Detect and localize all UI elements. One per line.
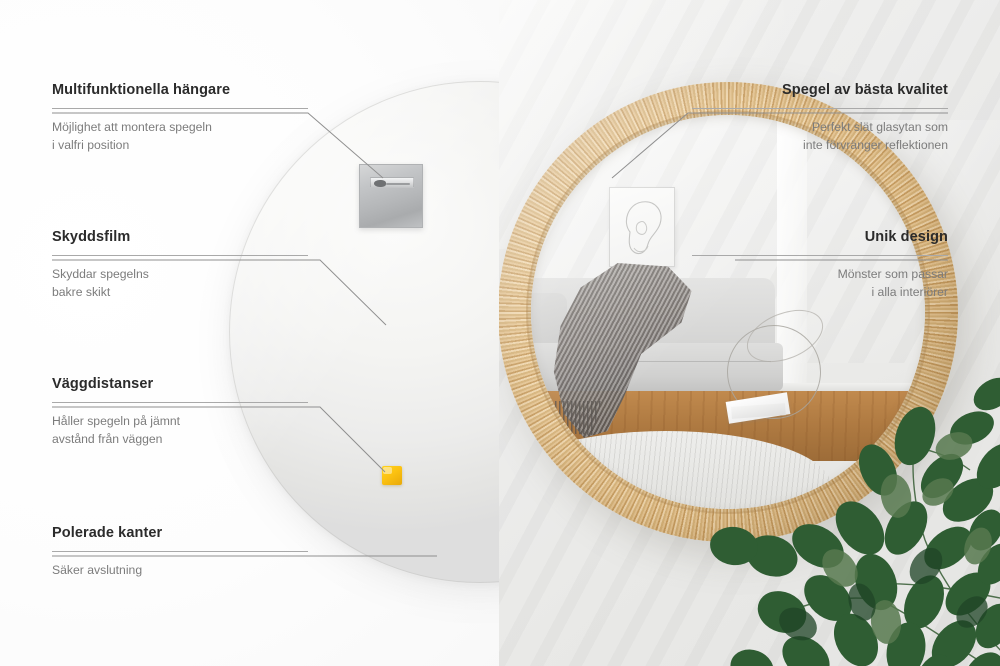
callout-title: Skyddsfilm — [52, 229, 308, 246]
callout-rule — [692, 108, 948, 109]
callout-title: Väggdistanser — [52, 376, 308, 393]
callout-title: Polerade kanter — [52, 525, 308, 542]
callout-title: Multifunktionella hängare — [52, 82, 308, 99]
foliage-decoration — [710, 350, 1000, 666]
callout-desc-line2: inte förvränger reflektionen — [692, 137, 948, 154]
callout-desc-line1: Håller spegeln på jämnt — [52, 413, 308, 430]
callout-vaggdistanser: Väggdistanser Håller spegeln på jämnt av… — [52, 376, 308, 448]
mirror-back-rim — [229, 81, 499, 583]
hanger-plate-icon — [370, 177, 414, 188]
hanger-slot-icon — [386, 183, 410, 186]
callout-unik-design: Unik design Mönster som passar i alla in… — [692, 229, 948, 301]
callout-skyddsfilm: Skyddsfilm Skyddar spegelns bakre skikt — [52, 229, 308, 301]
hanger-bracket — [359, 164, 423, 228]
callout-desc-line1: Mönster som passar — [692, 266, 948, 283]
callout-rule — [52, 255, 308, 256]
callout-desc-line2: avstånd från väggen — [52, 431, 308, 448]
infographic-canvas: Multifunktionella hängare Möjlighet att … — [0, 0, 1000, 666]
callout-rule — [52, 551, 308, 552]
callout-desc-line2: i valfri position — [52, 137, 308, 154]
callout-spegel-av-basta-kvalitet: Spegel av bästa kvalitet Perfekt slät gl… — [692, 82, 948, 154]
callout-title: Unik design — [692, 229, 948, 246]
callout-desc-line2: i alla interiörer — [692, 284, 948, 301]
callout-multifunktionella-hangare: Multifunktionella hängare Möjlighet att … — [52, 82, 308, 154]
callout-desc-line1: Möjlighet att montera spegeln — [52, 119, 308, 136]
callout-desc-line1: Perfekt slät glasytan som — [692, 119, 948, 136]
hanger-keyhole-icon — [374, 180, 386, 187]
wall-spacer-part — [382, 466, 402, 485]
callout-desc-line2: bakre skikt — [52, 284, 308, 301]
callout-rule — [692, 255, 948, 256]
callout-rule — [52, 402, 308, 403]
callout-desc-line1: Skyddar spegelns — [52, 266, 308, 283]
callout-rule — [52, 108, 308, 109]
callout-title: Spegel av bästa kvalitet — [692, 82, 948, 99]
callout-desc-line1: Säker avslutning — [52, 562, 308, 579]
callout-polerade-kanter: Polerade kanter Säker avslutning — [52, 525, 308, 580]
